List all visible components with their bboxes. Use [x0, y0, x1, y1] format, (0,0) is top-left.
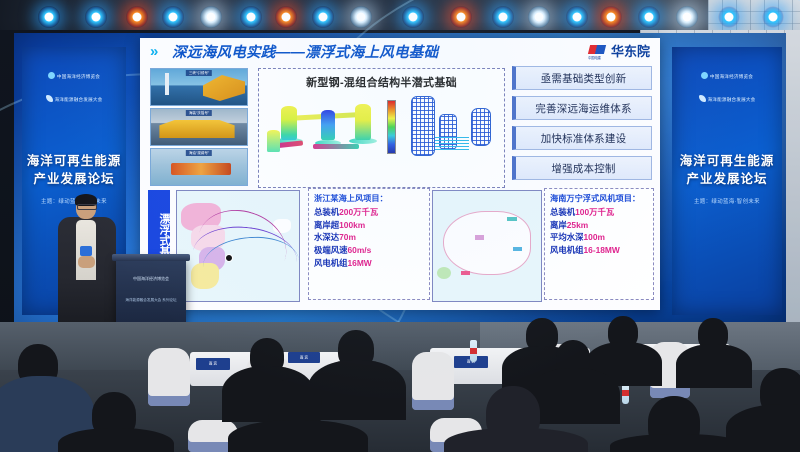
hainan-island — [443, 211, 531, 275]
map-region — [437, 267, 451, 279]
reference-photo-column: 三峡“引领号” 海装“扶摇号” 海油“观澜号” — [150, 68, 248, 186]
project-line-value: 200万千瓦 — [339, 207, 378, 217]
stage-light-white — [350, 6, 372, 28]
project-line-value: 16MW — [348, 258, 372, 268]
project-line: 总装机200万千瓦 — [314, 206, 424, 219]
speaker-device — [80, 246, 92, 256]
presentation-slide: » 深远海风电实践——漂浮式海上风电基础 中国电建 华东院 三峡“引领号” 海装… — [140, 38, 660, 310]
fem-panel-title: 新型钢-混组合结构半潜式基础 — [259, 74, 504, 90]
photo-item: 三峡“引领号” — [150, 68, 248, 106]
side-banner-right: 中国海洋经济博览会 海洋能源融合发展大会 海洋可再生能源 产业发展论坛 主题：绿… — [672, 47, 782, 315]
key-point-item: 亟需基础类型创新 — [512, 66, 652, 90]
load-arrows — [435, 136, 469, 150]
project-line-value: 100m — [584, 232, 605, 242]
lectern: 中国海洋经济博览会 海洋能源融合发展大会 系列论坛 — [116, 258, 186, 326]
project-line-label: 极端风速 — [314, 245, 348, 255]
banner-logo-row: 中国海洋经济博览会 — [22, 65, 126, 83]
corporate-logo: 中国电建 华东院 — [588, 41, 650, 60]
speaker-person — [56, 196, 118, 326]
project-line-value: 100万千瓦 — [575, 207, 614, 217]
project-line-label: 平均水深 — [550, 232, 584, 242]
key-point-label: 完善深远海运维体系 — [535, 101, 631, 116]
column-member — [355, 104, 371, 140]
key-point-item: 完善深远海运维体系 — [512, 96, 652, 120]
typhoon-track-map — [176, 190, 300, 302]
banner-title: 海洋可再生能源 产业发展论坛 — [22, 152, 126, 188]
expo-logo-icon — [48, 72, 55, 79]
map-city-marker — [475, 235, 484, 240]
water-bottle — [470, 340, 477, 362]
key-point-item: 增强成本控制 — [512, 156, 652, 180]
name-placard: 嘉 宾 — [288, 352, 320, 363]
energy-logo-icon — [699, 95, 706, 102]
key-point-label: 加快标准体系建设 — [541, 131, 627, 146]
project-line-value: 60m/s — [348, 245, 372, 255]
audience-shoulders — [58, 428, 174, 452]
banner-logo-1: 中国海洋经济博览会 — [57, 74, 100, 79]
fem-diagram — [259, 92, 504, 170]
banner-logo-row: 中国海洋经济博览会 — [672, 65, 782, 83]
audience-shoulders — [228, 420, 368, 452]
photo-item: 海油“观澜号” — [150, 148, 248, 186]
corp-logo-text: 中国电建 — [588, 55, 601, 60]
project-card-zhejiang: 浙江某海上风项目： 总装机200万千瓦 离岸超100km 水深达70m 极端风速… — [308, 188, 430, 300]
photo-caption: 三峡“引领号” — [186, 70, 212, 76]
energy-logo-icon — [46, 95, 53, 102]
project-line-value: 16-18MW — [584, 245, 620, 255]
column-member — [267, 130, 280, 152]
key-points-list: 亟需基础类型创新 完善深远海运维体系 加快标准体系建设 增强成本控制 — [512, 66, 652, 186]
map-city-marker — [461, 271, 470, 275]
audience-shoulders — [528, 368, 620, 424]
project-line: 离岸超100km — [314, 219, 424, 232]
expo-logo-icon — [701, 72, 708, 79]
audience-shoulders — [308, 360, 406, 420]
screenshot-root: 组织单位 组委会水电水利规划设计总院中能建海洋科技（湛江）有限公司海洋能源网 2… — [0, 0, 800, 452]
project-line: 风电机组16-18MW — [550, 244, 648, 257]
stage-light-blue — [38, 6, 60, 28]
stage-light-blue — [162, 6, 184, 28]
project-line-label: 总装机 — [550, 207, 575, 217]
banner-title-line2: 产业发展论坛 — [672, 170, 782, 188]
audience-shoulders — [676, 344, 752, 388]
project-line: 平均水深100m — [550, 231, 648, 244]
stage-light-blue — [85, 6, 107, 28]
audience-chair — [412, 352, 454, 410]
banner-title-line1: 海洋可再生能源 — [22, 152, 126, 170]
truss-brace — [313, 144, 359, 149]
stage-light-amber — [275, 6, 297, 28]
slide-header: » 深远海风电实践——漂浮式海上风电基础 中国电建 华东院 — [140, 38, 660, 64]
powerchina-logo-icon: 中国电建 — [588, 43, 606, 59]
stage-light-blue — [240, 6, 262, 28]
photo-item: 海装“扶摇号” — [150, 108, 248, 146]
project-line-value: 25km — [567, 220, 588, 230]
banner-title-line2: 产业发展论坛 — [22, 170, 126, 188]
project-line: 风电机组16MW — [314, 257, 424, 270]
map-city-marker — [507, 217, 517, 221]
project-line: 离岸25km — [550, 219, 648, 232]
photo-caption: 海油“观澜号” — [186, 150, 212, 156]
project-heading: 浙江某海上风项目： — [314, 193, 424, 204]
key-point-label: 增强成本控制 — [551, 161, 615, 176]
speaker-hands — [78, 256, 95, 268]
project-card-hainan: 海南万宁浮式风机项目： 总装机100万千瓦 离岸25km 平均水深100m 风电… — [544, 188, 654, 300]
banner-title-line1: 海洋可再生能源 — [672, 152, 782, 170]
banner-logo-2: 海洋能源融合发展大会 — [708, 97, 756, 102]
project-line-label: 离岸 — [550, 220, 567, 230]
lectern-logo-text: 中国海洋经济博览会 — [133, 276, 169, 282]
project-line-label: 风电机组 — [550, 245, 584, 255]
speaker-glasses — [77, 204, 97, 210]
project-line-value: 70m — [339, 232, 356, 242]
stage-light-white — [200, 6, 222, 28]
stress-color-legend — [387, 100, 396, 154]
project-line: 极端风速60m/s — [314, 244, 424, 257]
photo-caption: 海装“扶摇号” — [186, 110, 212, 116]
project-heading: 海南万宁浮式风机项目： — [550, 193, 648, 204]
fem-analysis-panel: 新型钢-混组合结构半潜式基础 — [258, 68, 505, 188]
project-site-marker — [225, 254, 233, 262]
banner-logo-1: 中国海洋经济博览会 — [710, 74, 753, 79]
project-line-label: 水深达 — [314, 232, 339, 242]
key-point-item: 加快标准体系建设 — [512, 126, 652, 150]
audience-chair — [148, 348, 190, 406]
project-line: 水深达70m — [314, 231, 424, 244]
project-line-label: 离岸超 — [314, 220, 339, 230]
stage-light-amber — [126, 6, 148, 28]
slide-title: 深远海风电实践——漂浮式海上风电基础 — [172, 41, 438, 62]
audience-shoulders — [444, 428, 588, 452]
map-city-marker — [513, 247, 522, 251]
lectern-sub-text: 海洋能源融合发展大会 系列论坛 — [125, 298, 176, 303]
banner-logo-row-2: 海洋能源融合发展大会 — [22, 88, 126, 106]
hainan-map — [432, 190, 542, 302]
corp-name: 华东院 — [611, 41, 650, 60]
project-line-label: 风电机组 — [314, 258, 348, 268]
mesh-model — [411, 96, 435, 156]
mesh-model — [471, 108, 491, 146]
column-member — [321, 110, 335, 140]
project-line: 总装机100万千瓦 — [550, 206, 648, 219]
double-chevron-right-icon: » — [150, 43, 156, 60]
column-member — [281, 106, 297, 140]
banner-title: 海洋可再生能源 产业发展论坛 — [672, 152, 782, 188]
project-line-value: 100km — [339, 220, 365, 230]
banner-subtitle: 主题：绿动蓝海·智创未来 — [672, 197, 782, 205]
stage-light-blue — [312, 6, 334, 28]
lectern-top — [112, 254, 190, 261]
name-placard: 嘉 宾 — [196, 358, 230, 370]
project-line-label: 总装机 — [314, 207, 339, 217]
banner-logo-row-2: 海洋能源融合发展大会 — [672, 88, 782, 106]
key-point-label: 亟需基础类型创新 — [541, 71, 627, 86]
banner-logo-2: 海洋能源融合发展大会 — [55, 97, 103, 102]
